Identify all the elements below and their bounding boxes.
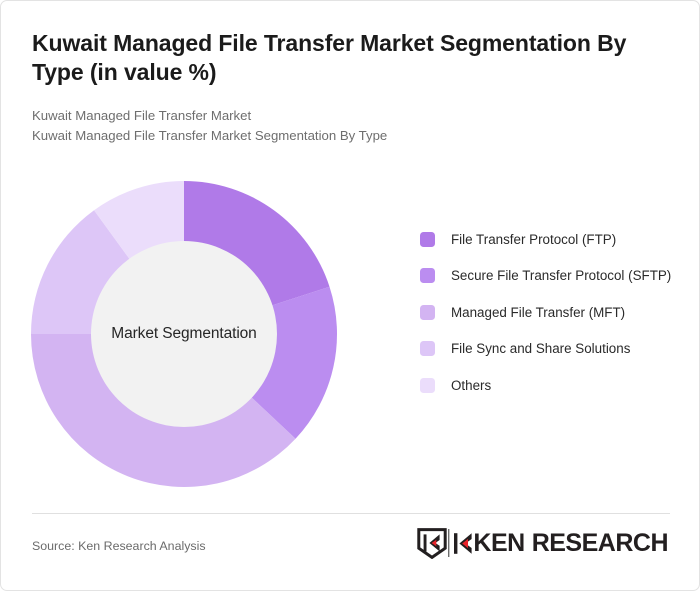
page-title: Kuwait Managed File Transfer Market Segm… (32, 29, 657, 88)
brand-name-research: RESEARCH (532, 531, 668, 556)
legend-item-label: Secure File Transfer Protocol (SFTP) (451, 266, 671, 286)
legend-item[interactable]: Secure File Transfer Protocol (SFTP) (420, 266, 678, 286)
subtitle-line-segmentation: Kuwait Managed File Transfer Market Segm… (32, 126, 657, 146)
chart-header: Kuwait Managed File Transfer Market Segm… (32, 29, 657, 147)
legend-item[interactable]: File Sync and Share Solutions (420, 339, 678, 359)
legend-swatch-icon (420, 305, 435, 320)
footer-divider (32, 513, 670, 514)
legend-item-label: Managed File Transfer (MFT) (451, 303, 625, 323)
legend-swatch-icon (420, 341, 435, 356)
brand-wordmark: KEN RESEARCH (453, 531, 668, 556)
legend-item-label: Others (451, 376, 491, 396)
chart-legend: File Transfer Protocol (FTP)Secure File … (420, 230, 678, 396)
chart-card: Kuwait Managed File Transfer Market Segm… (0, 0, 700, 591)
legend-item-label: File Transfer Protocol (FTP) (451, 230, 616, 250)
brand-name-ken: KEN (473, 531, 524, 556)
ken-research-shield-icon (417, 528, 447, 559)
subtitle-line-market: Kuwait Managed File Transfer Market (32, 106, 657, 126)
legend-item[interactable]: File Transfer Protocol (FTP) (420, 230, 678, 250)
donut-chart: Market Segmentation (31, 181, 337, 487)
legend-swatch-icon (420, 378, 435, 393)
subtitle-block: Kuwait Managed File Transfer Market Kuwa… (32, 106, 657, 147)
legend-item-label: File Sync and Share Solutions (451, 339, 630, 359)
donut-chart-svg (31, 181, 337, 487)
legend-item[interactable]: Others (420, 376, 678, 396)
source-note: Source: Ken Research Analysis (32, 539, 206, 553)
legend-item[interactable]: Managed File Transfer (MFT) (420, 303, 678, 323)
legend-swatch-icon (420, 232, 435, 247)
ken-research-logo: KEN RESEARCH (417, 527, 668, 559)
brand-k-icon (453, 531, 473, 556)
legend-swatch-icon (420, 268, 435, 283)
donut-hole (91, 241, 277, 427)
logo-separator-icon (447, 529, 450, 557)
